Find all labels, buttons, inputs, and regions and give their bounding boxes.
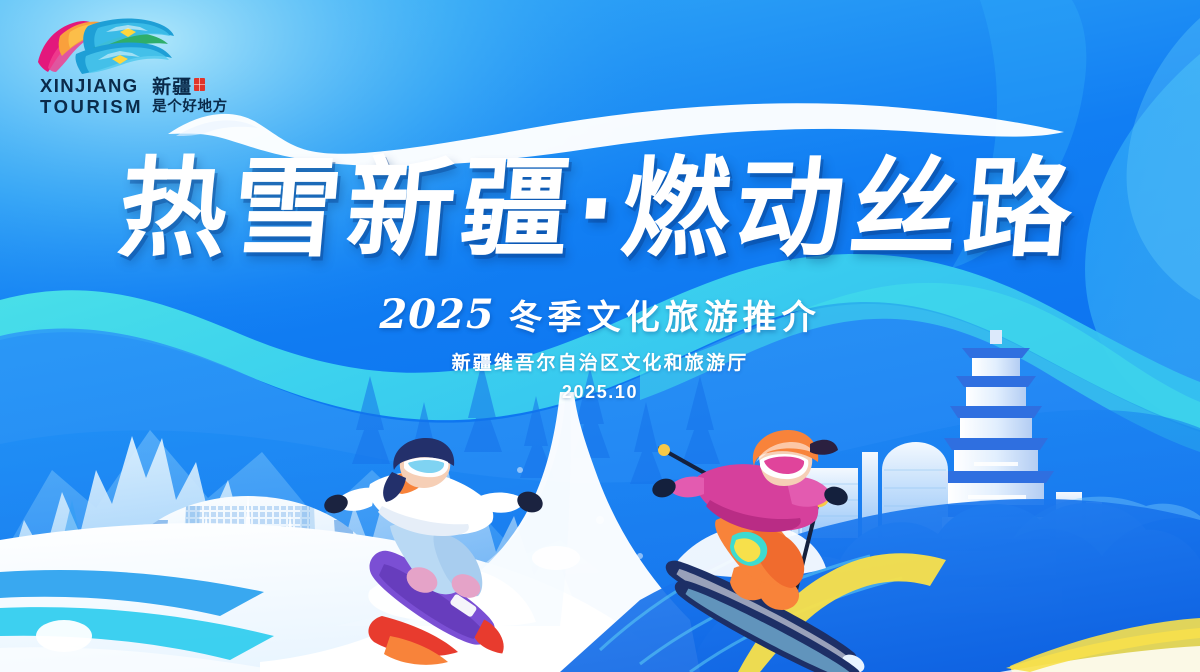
poster-canvas: 热雪新疆·燃动丝路 2025 冬季文化旅游推介 新疆维吾尔自治区文化和旅游厅 2… [0,0,1200,672]
logo-english-line2: TOURISM [40,97,143,118]
logo-english-line1: XINJIANG [40,76,143,97]
subtitle-container: 2025 冬季文化旅游推介 [0,290,1200,339]
organizer-date: 2025.10 [0,382,1200,403]
logo-chinese: 新疆 是个好地方 [152,76,228,117]
logo-chinese-text: 新疆 [152,77,192,99]
xinjiang-tourism-logo[interactable]: XINJIANG TOURISM 新疆 是个好地方 [22,16,222,116]
logo-wordmark: XINJIANG TOURISM 新疆 是个好地方 [40,76,228,117]
logo-chinese-line1: 新疆 [152,77,228,99]
organizer-name: 新疆维吾尔自治区文化和旅游厅 [0,348,1200,375]
organizer-container: 新疆维吾尔自治区文化和旅游厅 2025.10 [0,348,1200,403]
subtitle-year: 2025 [379,291,494,338]
subtitle-text: 冬季文化旅游推介 [509,290,821,339]
page-title: 热雪新疆·燃动丝路 [114,122,1087,278]
ribbon-emblem-icon [36,16,176,74]
headline-container: 热雪新疆·燃动丝路 [0,122,1200,278]
logo-english: XINJIANG TOURISM [40,76,143,117]
red-seal-stamp-icon [194,78,205,91]
logo-chinese-line2: 是个好地方 [152,99,228,116]
